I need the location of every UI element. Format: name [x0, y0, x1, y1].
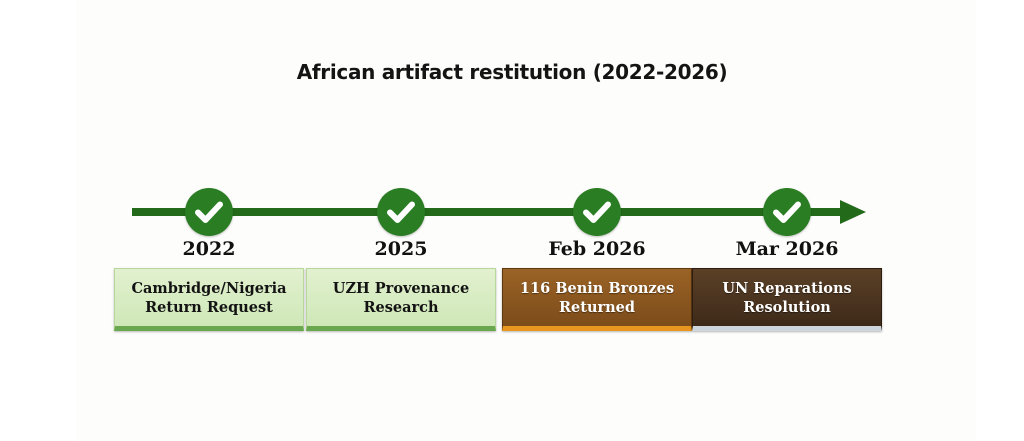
milestone-label-line1: UN Reparations: [699, 279, 875, 298]
milestone-card[interactable]: UZH Provenance Research: [306, 268, 496, 331]
milestone-date: 2022: [114, 238, 304, 260]
arrow-right-icon: [840, 200, 866, 224]
milestone-date: 2025: [306, 238, 496, 260]
milestone-label-line2: Research: [313, 298, 489, 317]
milestone-label-line2: Resolution: [699, 298, 875, 317]
milestone-label-line1: UZH Provenance: [313, 279, 489, 298]
milestone-card[interactable]: 116 Benin Bronzes Returned: [502, 268, 692, 331]
timeline-infographic: African artifact restitution (2022-2026)…: [0, 0, 1024, 441]
milestone-card[interactable]: Cambridge/Nigeria Return Request: [114, 268, 304, 331]
check-circle-icon: [763, 188, 811, 236]
milestone-label-line2: Returned: [509, 298, 685, 317]
check-circle-icon: [377, 188, 425, 236]
milestone-date: Mar 2026: [692, 238, 882, 260]
milestone-date: Feb 2026: [502, 238, 692, 260]
milestone-label-line1: 116 Benin Bronzes: [509, 279, 685, 298]
check-circle-icon: [185, 188, 233, 236]
milestone-card[interactable]: UN Reparations Resolution: [692, 268, 882, 331]
milestone-label-line2: Return Request: [121, 298, 297, 317]
check-circle-icon: [573, 188, 621, 236]
timeline-track: [132, 208, 844, 216]
milestone-label-line1: Cambridge/Nigeria: [121, 279, 297, 298]
page-title: African artifact restitution (2022-2026): [0, 60, 1024, 84]
